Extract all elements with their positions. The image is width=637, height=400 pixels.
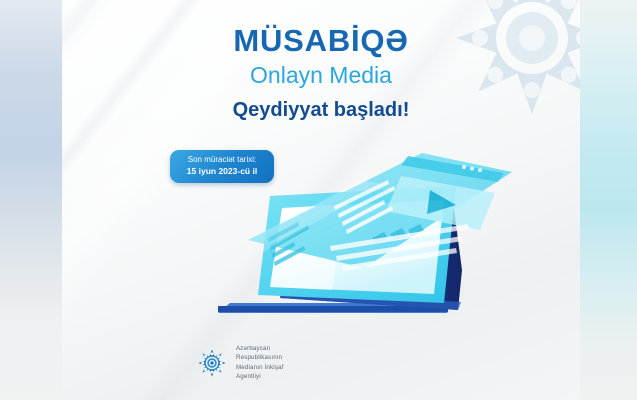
agency-name-line: Respublikasının	[236, 353, 283, 362]
deadline-date: 15 iyun 2023-cü il	[176, 166, 268, 177]
agency-name-line: Azərbaycan	[236, 344, 283, 353]
right-color-band	[580, 0, 637, 400]
left-color-band	[0, 0, 62, 400]
agency-logo: Azərbaycan Respublikasının Medianın İnki…	[195, 344, 283, 381]
deadline-label: Son müraciət tarixi:	[176, 155, 268, 166]
agency-logo-text: Azərbaycan Respublikasının Medianın İnki…	[236, 344, 283, 381]
agency-name-line: Agentliyi	[236, 372, 283, 381]
deadline-badge: Son müraciət tarixi: 15 iyun 2023-cü il	[170, 150, 274, 183]
agency-emblem-icon	[195, 346, 229, 380]
headline-group: MÜSABİQƏ Onlayn Media Qeydiyyat başladı!	[62, 24, 580, 124]
poster-canvas: MÜSABİQƏ Onlayn Media Qeydiyyat başladı!…	[62, 0, 580, 400]
promo-poster: MÜSABİQƏ Onlayn Media Qeydiyyat başladı!…	[0, 0, 637, 400]
tagline: Qeydiyyat başladı!	[62, 97, 580, 124]
page-title: MÜSABİQƏ	[62, 24, 580, 57]
agency-name-line: Medianın İnkişaf	[236, 363, 283, 372]
subtitle: Onlayn Media	[62, 60, 580, 91]
